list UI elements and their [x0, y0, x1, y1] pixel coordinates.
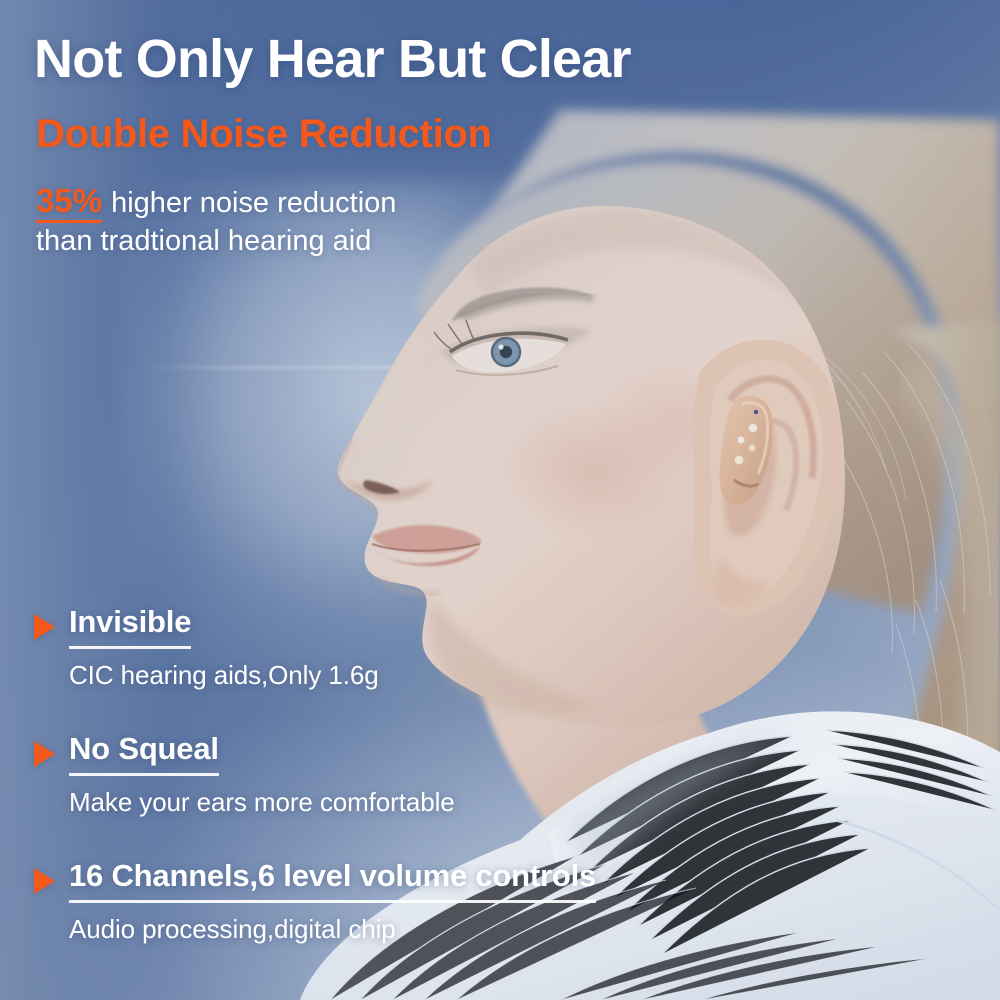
- feature-title: No Squeal: [69, 731, 219, 776]
- feature-heading-row: Invisible: [34, 604, 964, 649]
- feature-item-channels: 16 Channels,6 level volume controls Audi…: [34, 858, 964, 945]
- page-title: Not Only Hear But Clear: [34, 28, 631, 90]
- triangle-right-icon: [34, 741, 55, 767]
- product-marketing-poster: Not Only Hear But Clear Double Noise Red…: [0, 0, 1000, 1000]
- feature-item-invisible: Invisible CIC hearing aids,Only 1.6g: [34, 604, 964, 691]
- feature-subtitle: Audio processing,digital chip: [69, 914, 964, 945]
- feature-heading-row: 16 Channels,6 level volume controls: [34, 858, 964, 903]
- stat-line-1: 35%higher noise reduction: [36, 182, 396, 222]
- stat-line-1-text: higher noise reduction: [111, 187, 396, 219]
- feature-subtitle: CIC hearing aids,Only 1.6g: [69, 660, 964, 691]
- stat-block: 35%higher noise reduction than tradtiona…: [36, 182, 396, 260]
- feature-title: Invisible: [69, 604, 191, 649]
- triangle-right-icon: [34, 868, 55, 894]
- triangle-right-icon: [34, 614, 55, 640]
- stat-percent: 35%: [36, 182, 102, 223]
- feature-title: 16 Channels,6 level volume controls: [69, 858, 596, 903]
- feature-item-no-squeal: No Squeal Make your ears more comfortabl…: [34, 731, 964, 818]
- subtitle: Double Noise Reduction: [36, 112, 492, 157]
- feature-list: Invisible CIC hearing aids,Only 1.6g No …: [34, 604, 964, 945]
- stat-line-2: than tradtional hearing aid: [36, 222, 396, 260]
- feature-subtitle: Make your ears more comfortable: [69, 787, 964, 818]
- feature-heading-row: No Squeal: [34, 731, 964, 776]
